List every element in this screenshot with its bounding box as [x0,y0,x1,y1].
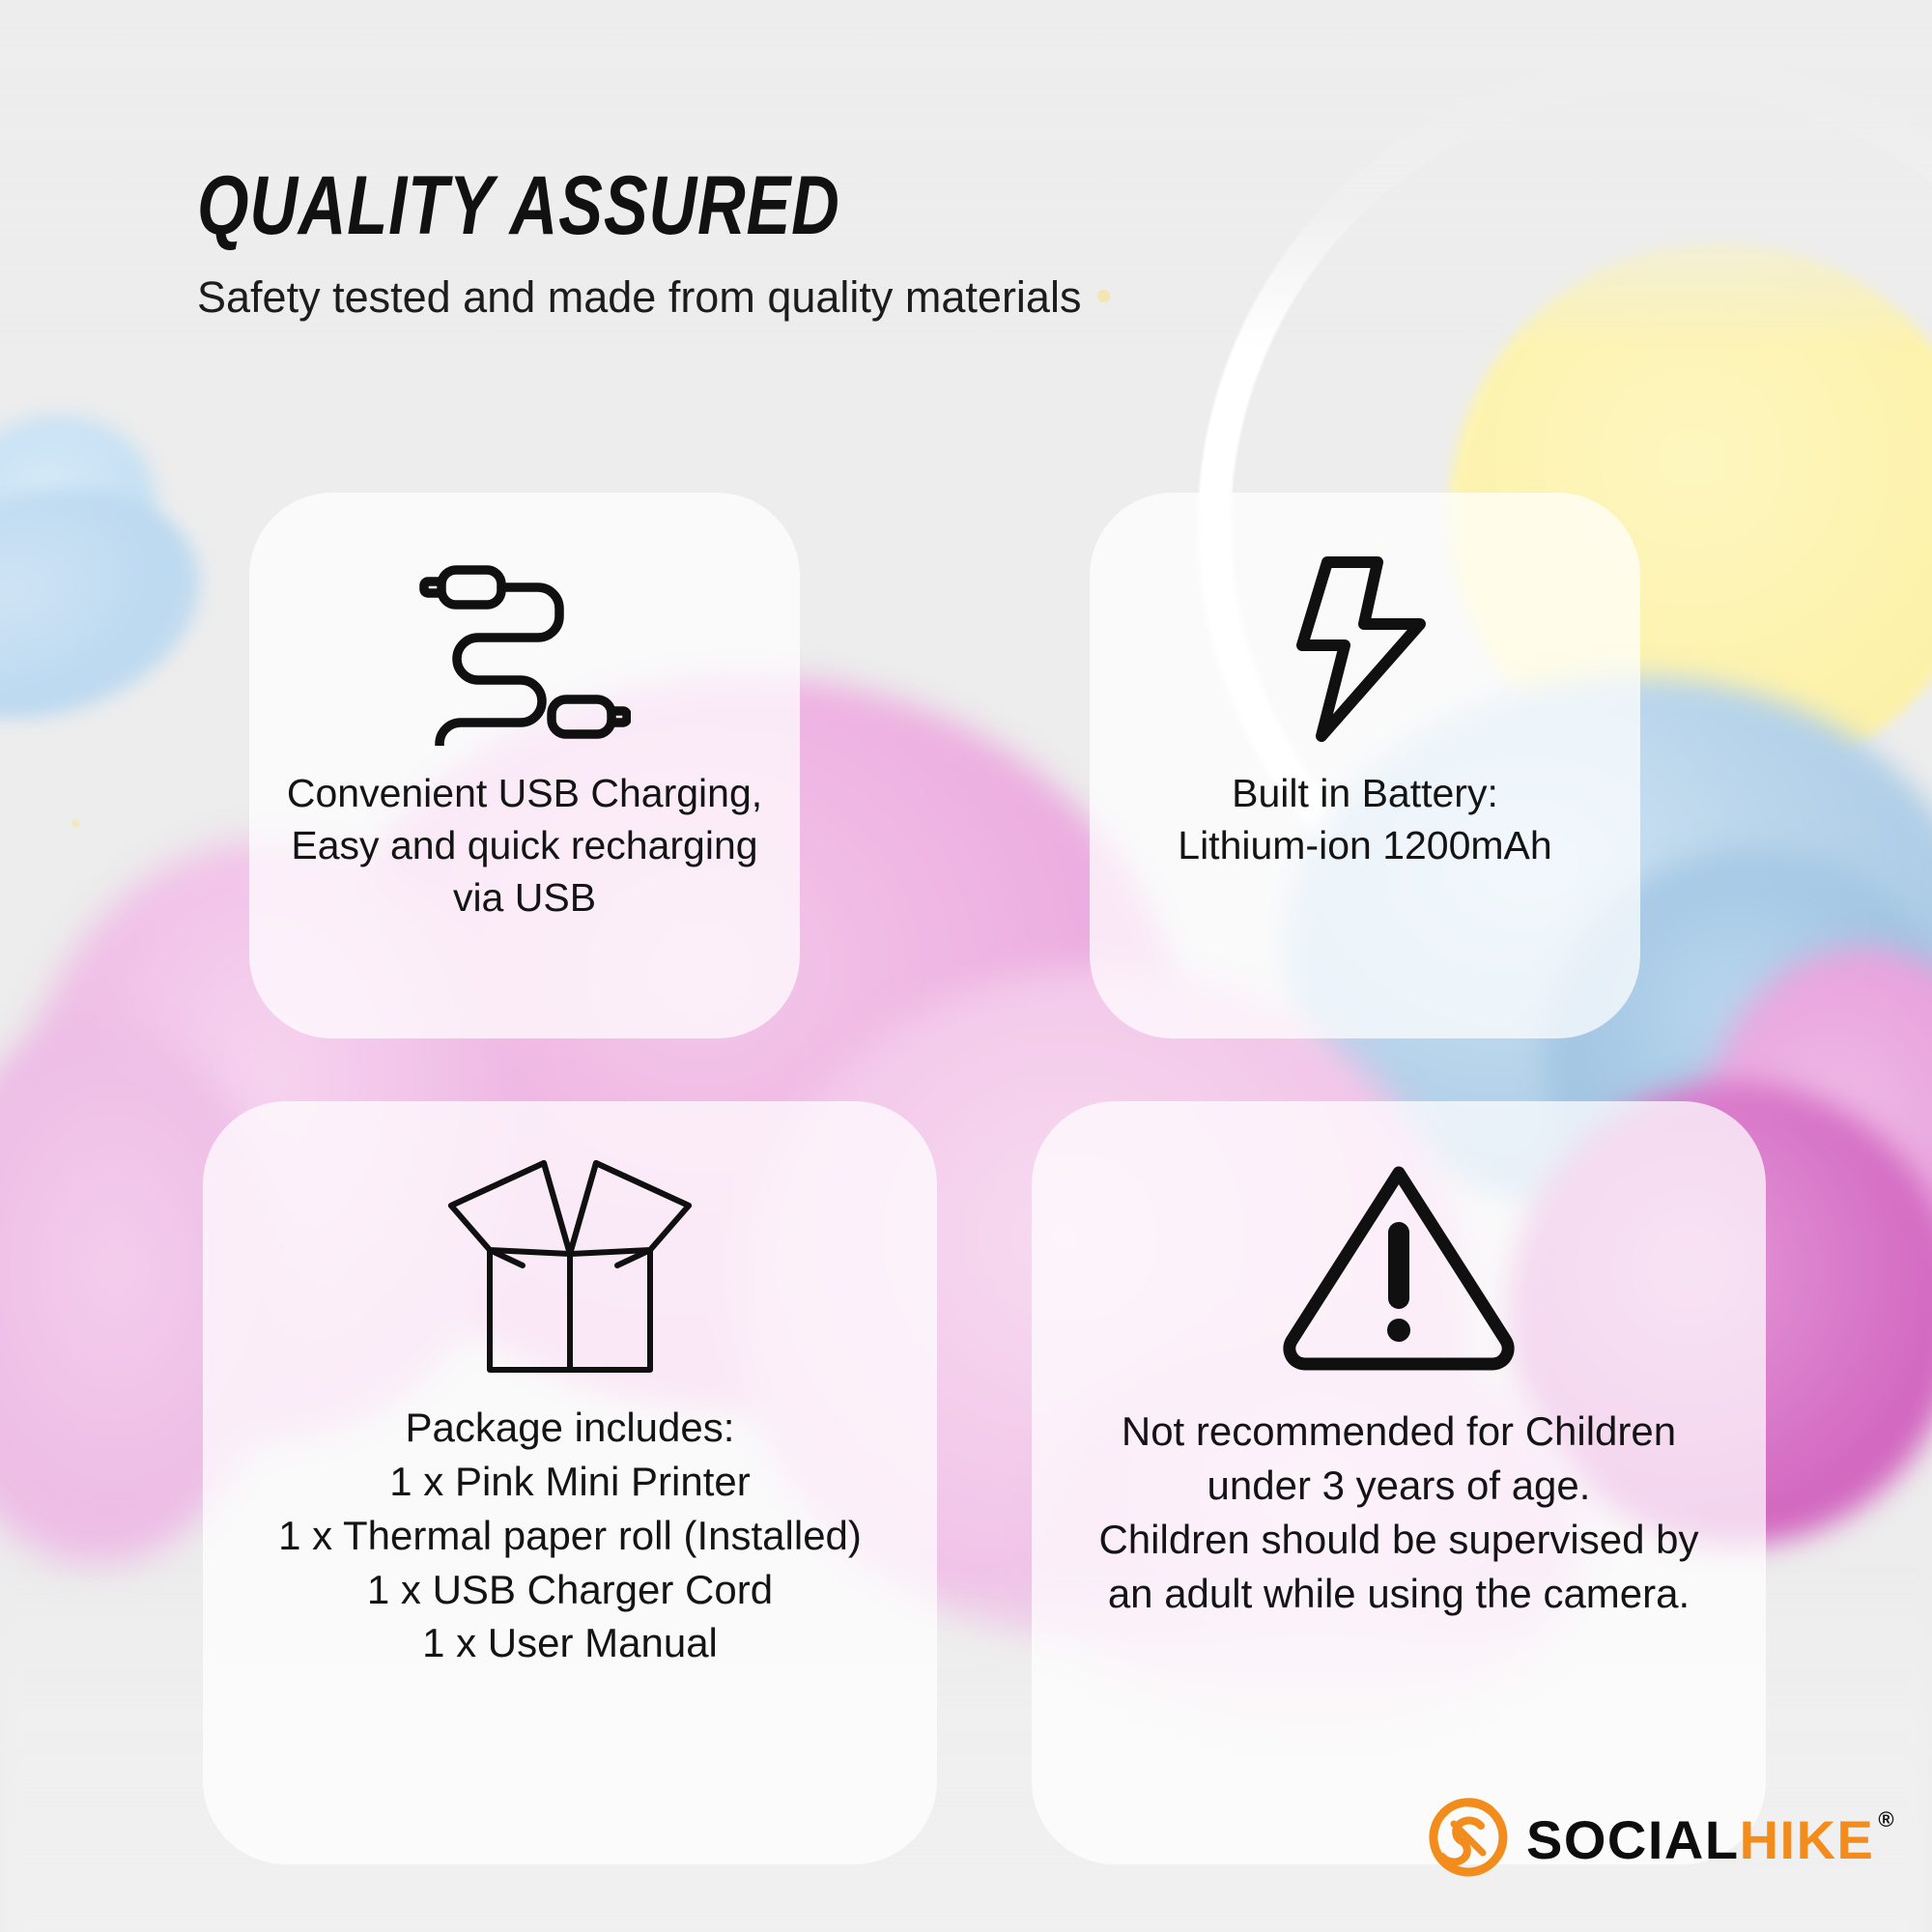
logo-word-hike: HIKE [1740,1813,1875,1867]
lightning-bolt-icon [1293,553,1437,746]
feature-card-usb-charging: Convenient USB Charging, Easy and quick … [249,493,800,1038]
speck-3 [71,819,80,828]
feature-card-warning: Not recommended for Children under 3 yea… [1032,1101,1766,1864]
feature-card-text: Convenient USB Charging, Easy and quick … [275,767,774,923]
feature-card-package: Package includes: 1 x Pink Mini Printer … [203,1101,937,1864]
blue-blob-left-small [0,415,155,580]
infographic-canvas: QUALITY ASSURED Safety tested and made f… [0,0,1932,1932]
feature-card-battery: Built in Battery: Lithium-ion 1200mAh [1090,493,1640,1038]
usb-cable-icon [418,553,631,746]
feature-card-text: Package includes: 1 x Pink Mini Printer … [267,1401,873,1670]
socialhike-s-mark-icon [1428,1797,1509,1883]
header-block: QUALITY ASSURED Safety tested and made f… [197,164,1081,323]
feature-card-text: Built in Battery: Lithium-ion 1200mAh [1166,767,1563,871]
page-title: QUALITY ASSURED [197,164,904,247]
socialhike-logo[interactable]: SOCIALHIKE® [1428,1797,1895,1883]
page-subtitle: Safety tested and made from quality mate… [197,272,1081,323]
logo-wordmark: SOCIALHIKE® [1526,1813,1895,1867]
open-box-icon [430,1142,710,1383]
feature-card-text: Not recommended for Children under 3 yea… [1087,1405,1710,1620]
registered-trademark-icon: ® [1878,1809,1895,1831]
blue-blob-left [0,455,226,753]
speck-1 [1097,290,1110,302]
logo-word-social: SOCIAL [1526,1813,1740,1867]
warning-triangle-icon [1278,1142,1520,1383]
